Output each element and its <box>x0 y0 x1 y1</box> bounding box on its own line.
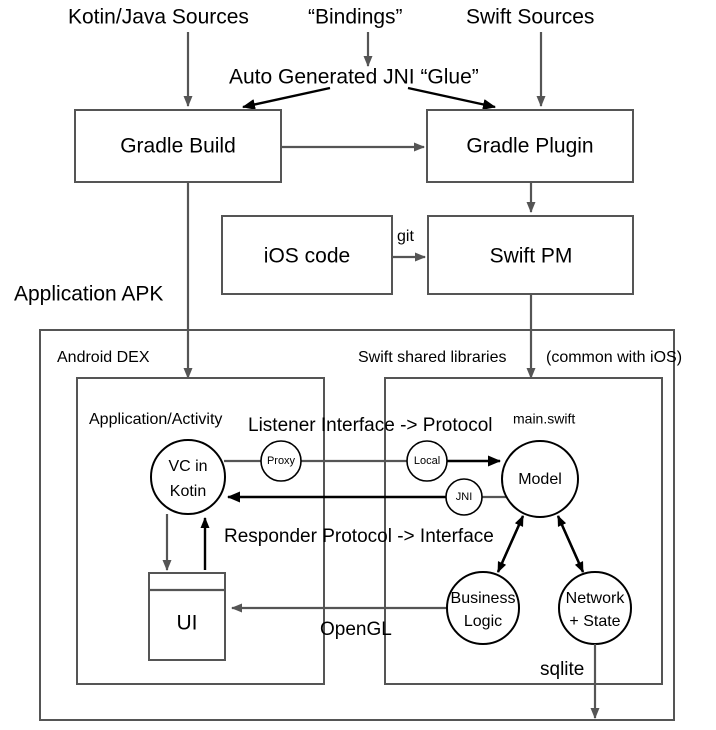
node-business-logic[interactable] <box>447 572 519 644</box>
label-android-dex: Android DEX <box>57 349 150 366</box>
label-local: Local <box>414 455 440 467</box>
label-network-line1: Network <box>566 590 626 607</box>
label-auto-generated-jni-glue: Auto Generated JNI “Glue” <box>229 66 479 89</box>
label-gradle-build: Gradle Build <box>120 135 236 158</box>
arrow-network-to-model <box>558 516 583 572</box>
label-swift-pm: Swift PM <box>490 245 573 268</box>
label-ios-code: iOS code <box>264 245 350 268</box>
label-swift-shared-libraries: Swift shared libraries <box>358 349 507 366</box>
label-business-line2: Logic <box>464 613 502 630</box>
label-network-line2: + State <box>569 613 620 630</box>
label-application-apk: Application APK <box>14 283 163 306</box>
node-vc-in-kotlin[interactable] <box>151 440 225 514</box>
label-application-activity: Application/Activity <box>89 411 222 428</box>
label-bindings: “Bindings” <box>308 6 403 29</box>
arrow-glue-to-gradle-build <box>243 88 330 107</box>
diagram-canvas: Kotin/Java Sources “Bindings” Swift Sour… <box>0 0 716 730</box>
label-main-swift: main.swift <box>513 411 575 427</box>
label-model: Model <box>518 471 562 488</box>
label-gradle-plugin: Gradle Plugin <box>466 135 593 158</box>
label-business-line1: Business <box>451 590 516 607</box>
label-ui: UI <box>177 612 198 635</box>
label-listener-interface-protocol: Listener Interface -> Protocol <box>248 415 493 436</box>
label-git: git <box>397 228 414 245</box>
label-swift-sources: Swift Sources <box>466 6 594 29</box>
node-network-state[interactable] <box>559 572 631 644</box>
label-kotlin-java-sources: Kotin/Java Sources <box>68 6 249 29</box>
label-common-with-ios: (common with iOS) <box>546 349 682 366</box>
label-proxy: Proxy <box>267 455 296 467</box>
arrow-glue-to-gradle-plugin <box>408 88 495 107</box>
label-vc-line2: Kotin <box>170 483 206 500</box>
label-sqlite: sqlite <box>540 659 584 680</box>
arrow-business-logic-to-model <box>498 516 523 572</box>
architecture-diagram: Kotin/Java Sources “Bindings” Swift Sour… <box>0 0 716 730</box>
label-jni: JNI <box>456 491 473 503</box>
label-vc-line1: VC in <box>168 458 207 475</box>
label-responder-protocol-interface: Responder Protocol -> Interface <box>224 526 494 547</box>
label-opengl: OpenGL <box>320 619 392 640</box>
